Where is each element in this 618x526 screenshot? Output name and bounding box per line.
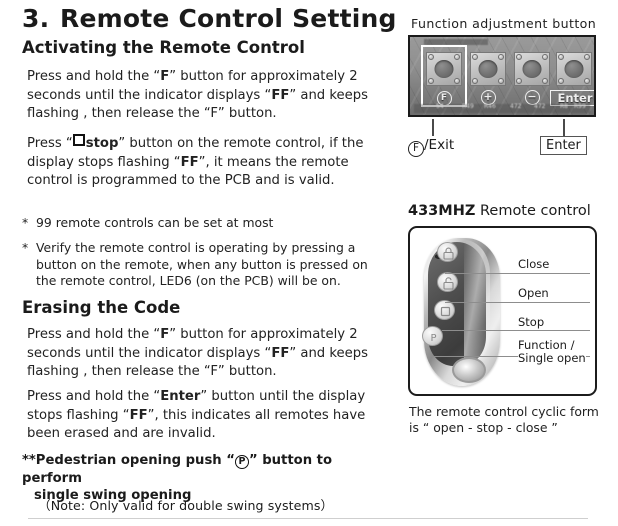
switch-pin — [516, 78, 522, 84]
silkscreen-text: 472 — [510, 103, 521, 110]
pcb-silkscreen-bottom: 54 R49 R46 472 472 R8 R99 — [414, 104, 590, 113]
leader-line-open — [445, 302, 590, 303]
p4-text-a: Press and hold the “ — [27, 389, 160, 404]
pcb-switch-plus[interactable] — [470, 52, 506, 86]
switch-pin — [472, 78, 478, 84]
fob-highlight — [464, 240, 490, 360]
p2-text-a: Press “ — [27, 136, 73, 151]
remote-heading-rest: Remote control — [475, 203, 590, 219]
pcb-photo: F + − Enter 54 R49 R46 472 472 R8 R99 — [408, 35, 596, 117]
remote-cyclic-note: The remote control cyclic form is “ open… — [409, 404, 609, 436]
switch-pin — [498, 78, 504, 84]
pcb-switch-enter[interactable] — [556, 52, 592, 86]
p4-bold-ff: FF — [130, 408, 148, 423]
p3-bold-f: F — [160, 327, 169, 342]
footer-divider — [28, 518, 588, 519]
paragraph-activate-step1: Press and hold the “F” button for approx… — [27, 68, 397, 124]
switch-pin — [584, 78, 590, 84]
remote-label-close: Close — [518, 258, 549, 271]
subtitle-erasing-code: Erasing the Code — [22, 298, 180, 317]
note-2-text: Verify the remote control is operating b… — [36, 240, 368, 288]
note-max-remotes: * 99 remote controls can be set at most — [22, 214, 392, 233]
switch-pin — [558, 54, 564, 60]
pcb-figure-caption: Function adjustment button — [411, 16, 596, 31]
silkscreen-text: 54 — [436, 103, 444, 110]
square-stop-icon — [438, 304, 453, 319]
switch-pin — [558, 78, 564, 84]
switch-pin — [472, 54, 478, 60]
section-title-text: Remote Control Setting — [60, 4, 397, 33]
leader-line-stop — [442, 330, 590, 331]
p1-bold-ff: FF — [271, 88, 289, 103]
p1-text-a: Press and hold the “ — [27, 69, 160, 84]
note-1-marker: * — [22, 214, 28, 233]
page-title: 3. Remote Control Setting — [22, 4, 397, 33]
note-1-text: 99 remote controls can be set at most — [36, 215, 273, 230]
silkscreen-text: R49 — [462, 103, 474, 110]
callout-f-text: /Exit — [424, 137, 454, 153]
open-lock-icon — [441, 276, 456, 291]
callout-enter: Enter — [540, 136, 587, 155]
remote-figure-heading: 433MHZ Remote control — [408, 203, 591, 219]
pedestrian-line1-a: Pedestrian opening push “ — [36, 453, 235, 468]
leader-line-enter — [563, 119, 565, 136]
callout-f-exit: F/Exit — [408, 137, 454, 157]
fob-keyring-loop — [452, 357, 486, 383]
fob-button-close[interactable] — [437, 242, 458, 262]
svg-text:P: P — [430, 333, 436, 344]
cyclic-note-line2: is “ open - stop - close ” — [409, 420, 609, 436]
circled-p-icon: P — [235, 455, 249, 469]
silkscreen-text: 472 — [534, 103, 545, 110]
pedestrian-marker: ** — [22, 453, 36, 468]
pcb-switch-minus[interactable] — [514, 52, 550, 86]
cyclic-note-line1: The remote control cyclic form — [409, 404, 609, 420]
fob-button-function[interactable]: P — [422, 326, 443, 346]
switch-pin — [498, 54, 504, 60]
right-figure-column: Function adjustment button F + − Enter 5… — [400, 0, 618, 526]
p3-text-a: Press and hold the “ — [27, 327, 160, 342]
switch-pin — [542, 54, 548, 60]
fob-button-stop[interactable] — [434, 300, 455, 320]
paragraph-activate-step2: Press “stop” button on the remote contro… — [27, 134, 397, 191]
paragraph-erase-step1: Press and hold the “F” button for approx… — [27, 326, 397, 382]
p2-bold-stop: stop — [86, 136, 119, 151]
remote-label-stop: Stop — [518, 316, 544, 329]
leader-line-close — [445, 273, 590, 274]
silkscreen-text: R46 — [484, 103, 496, 110]
p4-bold-enter: Enter — [160, 389, 200, 404]
p3-bold-ff: FF — [271, 346, 289, 361]
pcb-highlight-box-f — [421, 45, 467, 107]
switch-pin — [584, 54, 590, 60]
closed-lock-icon — [441, 246, 456, 261]
section-number: 3 — [22, 4, 40, 33]
letter-p-icon: P — [426, 330, 441, 345]
subtitle-activating-remote: Activating the Remote Control — [22, 38, 305, 57]
pedestrian-validity-note: （Note: Only valid for double swing syste… — [38, 495, 333, 514]
switch-pin — [516, 54, 522, 60]
silkscreen-text: R99 — [574, 103, 586, 110]
remote-label-open: Open — [518, 287, 549, 300]
note-verify-remote: * Verify the remote control is operating… — [22, 240, 392, 290]
fob-button-open[interactable] — [437, 272, 458, 292]
remote-control-figure: P — [408, 226, 597, 396]
paragraph-erase-step2: Press and hold the “Enter” button until … — [27, 388, 397, 444]
remote-label-function-line2: Single open — [518, 352, 586, 365]
p1-bold-f: F — [160, 69, 169, 84]
p2-bold-ff: FF — [181, 155, 199, 170]
note-2-marker: * — [22, 240, 28, 257]
switch-pin — [542, 78, 548, 84]
square-stop-icon — [73, 134, 85, 146]
section-separator: . — [40, 4, 52, 33]
remote-frequency: 433MHZ — [408, 203, 475, 219]
left-text-column: 3. Remote Control Setting Activating the… — [0, 0, 400, 526]
remote-label-function: Function / Single open — [518, 339, 586, 365]
silkscreen-text: R8 — [560, 103, 568, 110]
circled-f-icon: F — [408, 141, 424, 157]
leader-line-f — [432, 119, 434, 136]
